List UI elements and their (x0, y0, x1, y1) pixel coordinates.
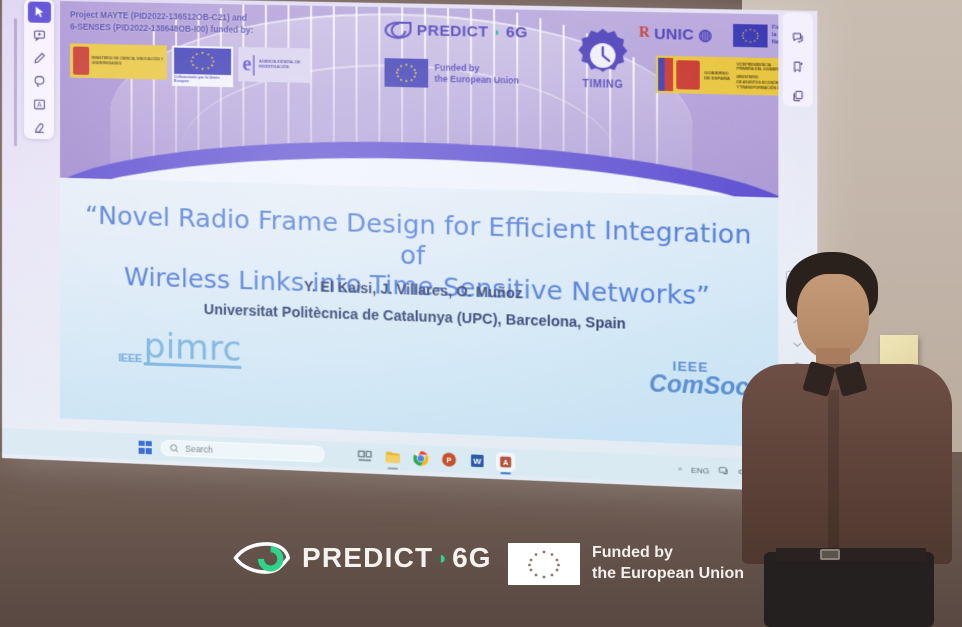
predict6g-logo-header: PREDICT ◗ 6G (385, 21, 528, 41)
eu-funded-logo-header: Funded by the European Union (385, 58, 520, 90)
start-button[interactable] (139, 440, 152, 454)
copy-icon[interactable] (785, 86, 810, 107)
predict-dot-icon: ◗ (494, 26, 501, 38)
pdf-page-slide: Project MAYTE (PID2022-136512OB-C21) and… (60, 1, 778, 447)
spain-crest-icon (73, 46, 89, 74)
left-toolbar: A (24, 0, 54, 139)
eu-flag-icon (385, 58, 429, 88)
taskbar-app-chrome[interactable] (413, 450, 430, 467)
taskbar-app-file-explorer[interactable] (385, 449, 402, 466)
svg-text:A: A (503, 460, 508, 467)
aei-label: AGENCIA ESTATAL DE INVESTIGACIÓN (259, 59, 306, 71)
gobierno-espana-logo: GOBIERNO DE ESPAÑA VICEPRESIDENCIA PRIME… (656, 56, 778, 97)
comsoc-wordmark: ComSoc® (649, 373, 755, 398)
predict6g-banner: PREDICT ◗ 6G (232, 540, 492, 576)
unico-logo: R UNIC ◍ (639, 24, 713, 44)
eu-flag-icon (508, 543, 580, 585)
projected-screen: A 3 27 (2, 0, 817, 493)
right-toolbar (783, 12, 813, 106)
unico-o-icon: ◍ (698, 25, 712, 44)
svg-text:A: A (37, 102, 42, 109)
scene-root: A 3 27 (0, 0, 962, 627)
presenter-trousers (764, 552, 934, 627)
marker-icon[interactable] (27, 48, 50, 70)
active-app-indicator (500, 472, 511, 474)
svg-text:P: P (447, 455, 452, 464)
bookmark-icon[interactable] (785, 57, 810, 78)
ministerio-digital-label: VICEPRESIDENCIA PRIMERA DEL GOBIERNO MIN… (736, 62, 778, 91)
taskbar-apps: P W A (357, 448, 515, 471)
search-placeholder: Search (185, 444, 212, 455)
unico-word: UNIC (654, 25, 694, 43)
predict-suffix: 6G (506, 24, 528, 42)
timing-logo: TIMING (565, 27, 641, 92)
eu-funded-banner: Funded by the European Union (508, 543, 744, 585)
eu-flag-icon (733, 24, 767, 48)
presenter-photo (742, 252, 952, 627)
ministerio-ciencia-logo: MINISTERIO DE CIENCIA, INNOVACIÓN Y UNIV… (70, 43, 167, 79)
banner-predict-suffix: 6G (452, 542, 491, 574)
nextgeneration-eu-label: Financiado por la Unión Europea NextGene… (772, 25, 778, 48)
predict-eye-icon (385, 21, 412, 39)
search-input[interactable]: Search (161, 440, 325, 463)
pimrc-wordmark: pimrc (144, 333, 242, 369)
nextgeneration-eu-logo: Financiado por la Unión Europea NextGene… (733, 24, 778, 49)
presenter-belt-buckle (820, 549, 840, 560)
gear-clock-icon (574, 27, 631, 84)
comment-tool[interactable] (27, 25, 50, 47)
taskbar-app-powerpoint[interactable]: P (441, 451, 458, 468)
taskbar-app-word[interactable]: W (469, 452, 486, 469)
chat-bubble-icon[interactable] (785, 27, 810, 48)
lasso-icon[interactable] (27, 71, 50, 93)
eu-funded-banner-label: Funded by the European Union (592, 543, 744, 585)
predict-eye-icon (232, 540, 290, 576)
gobierno-label: GOBIERNO DE ESPAÑA (704, 70, 730, 82)
aei-logo: e| AGENCIA ESTATAL DE INVESTIGACIÓN (238, 47, 310, 83)
eu-cofinanced-label: Cofinanciado por la Unión Europea (174, 75, 231, 85)
select-tool[interactable] (27, 1, 50, 22)
unico-r-mark: R (639, 25, 650, 42)
banner-dot-icon: ◗ (437, 548, 448, 569)
ieee-wordmark: IEEE (118, 352, 141, 365)
presenter-shirt-placket (828, 390, 839, 555)
eraser-icon[interactable] (27, 117, 50, 139)
ieee-pimrc-logo: IEEE pimrc (118, 332, 241, 369)
predict-word: PREDICT (417, 22, 489, 41)
ieee-comsoc-logo: IEEE ComSoc® (649, 357, 755, 398)
eu-funded-label: Funded by the European Union (434, 63, 519, 87)
aei-mark-icon: e| (242, 53, 256, 77)
tray-language-label[interactable]: ENG (691, 465, 710, 475)
eu-cofinanced-logo: Cofinanciado por la Unión Europea (172, 46, 233, 88)
search-icon (169, 443, 179, 454)
slide-header-photo: Project MAYTE (PID2022-136512OB-C21) and… (60, 1, 778, 198)
spain-crest-icon (676, 60, 700, 90)
banner-predict-word: PREDICT (302, 542, 433, 574)
tray-chevron-icon[interactable]: ^ (678, 465, 682, 474)
display-icon[interactable] (718, 466, 729, 477)
taskbar-app-acrobat[interactable]: A (497, 453, 514, 470)
ministerio-ciencia-label: MINISTERIO DE CIENCIA, INNOVACIÓN Y UNIV… (92, 56, 164, 67)
svg-text:W: W (473, 457, 481, 467)
spain-flag-icon (658, 58, 673, 91)
taskbar-app-task-view[interactable] (357, 448, 374, 465)
eu-flag-icon (174, 48, 231, 76)
funding-note: Project MAYTE (PID2022-136512OB-C21) and… (70, 9, 253, 37)
presenter-belt (776, 548, 926, 561)
funder-logo-row: MINISTERIO DE CIENCIA, INNOVACIÓN Y UNIV… (70, 43, 310, 89)
text-box-tool[interactable]: A (27, 94, 50, 116)
document-scrollbar[interactable] (14, 18, 17, 146)
